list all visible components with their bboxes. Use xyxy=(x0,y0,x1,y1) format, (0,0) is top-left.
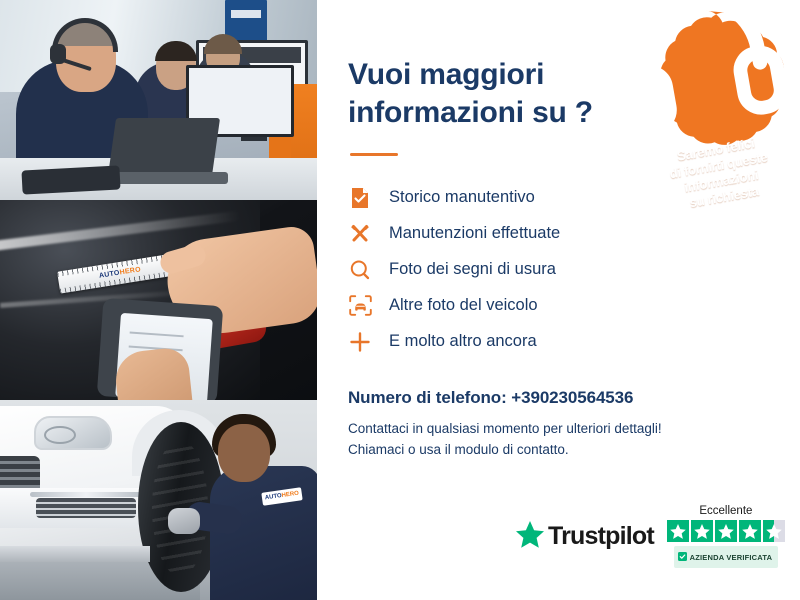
trustpilot-rating-block: Eccellente AZIENDA VERIFICATA xyxy=(667,505,785,568)
feature-label: Foto dei segni di usura xyxy=(389,260,556,279)
contact-description-line-1: Contattaci in qualsiasi momento per ulte… xyxy=(348,421,662,436)
content-panel: Vuoi maggiori informazioni su ? Storico … xyxy=(317,0,800,600)
contact-description: Contattaci in qualsiasi momento per ulte… xyxy=(348,419,738,461)
list-item: Manutenzioni effettuate xyxy=(348,216,800,252)
rating-star-2 xyxy=(691,520,713,542)
headset-icon xyxy=(601,0,798,155)
feature-label: E molto altro ancora xyxy=(389,332,537,351)
verified-check-icon xyxy=(678,548,687,566)
title-divider xyxy=(350,153,398,156)
desk-tablet xyxy=(21,165,120,194)
list-item: Foto dei segni di usura xyxy=(348,252,800,288)
feature-label: Storico manutentivo xyxy=(389,188,535,207)
trustpilot-star-icon xyxy=(516,521,544,553)
list-item: Altre foto del veicolo xyxy=(348,288,800,324)
bumper-air-vent xyxy=(36,498,136,518)
mechanic-head xyxy=(218,424,270,482)
trustpilot-rating-label: Eccellente xyxy=(699,505,752,517)
car-lift-arm xyxy=(0,546,150,562)
headline-line-1: Vuoi maggiori xyxy=(348,58,544,91)
magnifier-icon xyxy=(348,258,372,282)
support-badge: Saremo felici di fornirti queste informa… xyxy=(620,4,790,174)
rating-star-1 xyxy=(667,520,689,542)
trustpilot-star-rating xyxy=(667,520,785,542)
feature-label: Altre foto del veicolo xyxy=(389,296,538,315)
trustpilot-brand-name: Trustpilot xyxy=(548,522,654,551)
photo-column: AUTOHERO AUTOHERO xyxy=(0,0,317,600)
trustpilot-widget[interactable]: Trustpilot Eccellente xyxy=(516,505,785,568)
badge-content: Saremo felici di fornirti queste informa… xyxy=(607,0,800,187)
page-title: Vuoi maggiori informazioni su ? xyxy=(348,56,628,133)
trustpilot-logo: Trustpilot xyxy=(516,521,654,553)
list-item: E molto altro ancora xyxy=(348,324,800,360)
wrench-screwdriver-icon xyxy=(348,222,372,246)
contact-description-line-2: Chiamaci o usa il modulo di contatto. xyxy=(348,442,569,457)
rating-star-5-half xyxy=(763,520,785,542)
rating-star-3 xyxy=(715,520,737,542)
call-center-agents-photo xyxy=(0,0,317,200)
uniform-logo-hero: HERO xyxy=(281,491,299,499)
plus-icon xyxy=(348,330,372,354)
clipboard-check-icon xyxy=(348,186,372,210)
uniform-logo-auto: AUTO xyxy=(265,493,283,501)
rating-star-4 xyxy=(739,520,761,542)
mechanic-glove xyxy=(168,508,200,534)
bumper-chrome-trim xyxy=(30,492,142,497)
status-badge: AZIENDA VERIFICATA xyxy=(674,546,779,568)
car-scan-icon xyxy=(348,294,372,318)
laptop-screen xyxy=(108,118,220,176)
car-scratch-inspection-photo: AUTOHERO xyxy=(0,200,317,400)
contact-info-banner: AUTOHERO AUTOHERO xyxy=(0,0,800,600)
feature-list: Storico manutentivo Manutenzioni effettu… xyxy=(348,180,800,360)
ruler-brand-hero: HERO xyxy=(119,266,141,276)
ruler-brand-auto: AUTO xyxy=(99,270,121,280)
car-headlight xyxy=(34,416,112,450)
verified-label: AZIENDA VERIFICATA xyxy=(690,553,773,562)
feature-label: Manutenzioni effettuate xyxy=(389,224,560,243)
phone-number-label: Numero di telefono: +390230564536 xyxy=(348,388,800,408)
mechanic-tire-inspection-photo: AUTOHERO xyxy=(0,400,317,600)
headline-line-2: informazioni su ? xyxy=(348,96,593,129)
